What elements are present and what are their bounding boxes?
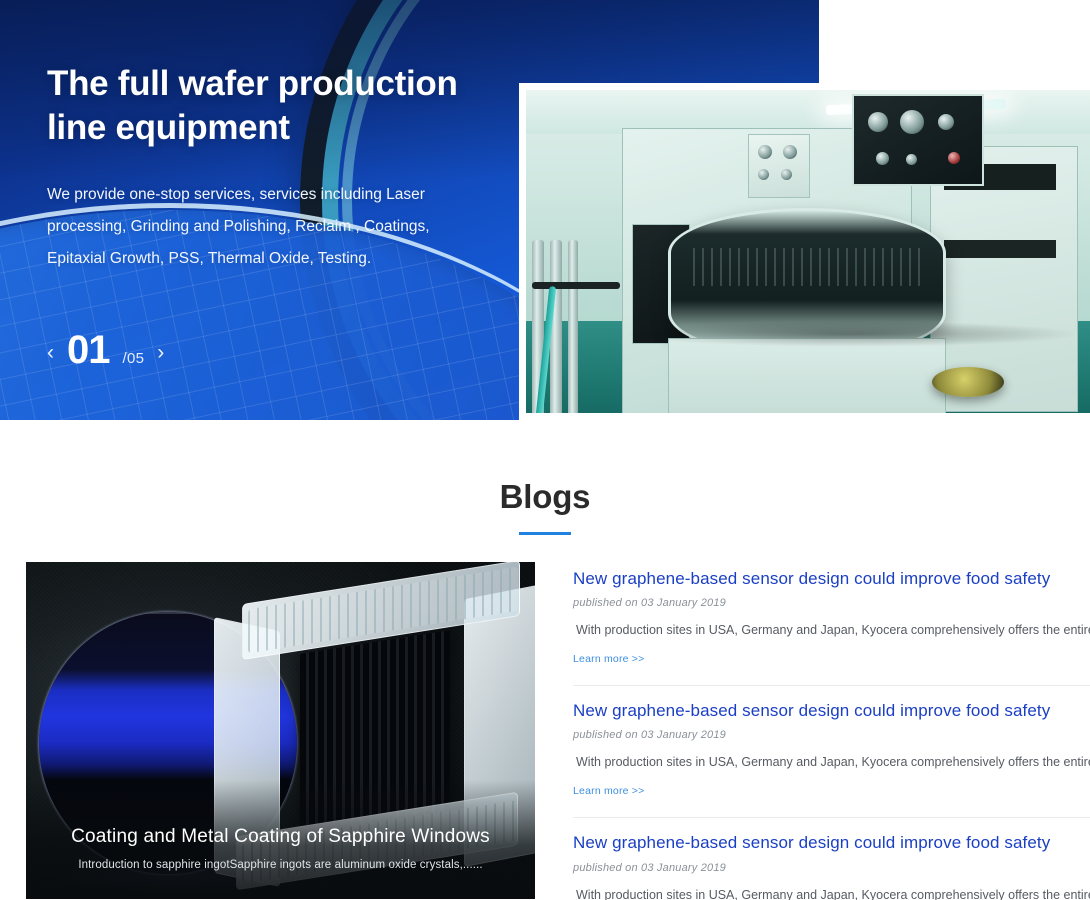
control-dial-3 bbox=[938, 114, 954, 130]
control-dial-red bbox=[948, 152, 960, 164]
hero-text-block: The full wafer production line equipment… bbox=[47, 62, 467, 274]
slider-current-index: 01 bbox=[67, 330, 110, 370]
pipe-cross bbox=[532, 282, 620, 289]
blog-item-title[interactable]: New graphene-based sensor design could i… bbox=[573, 700, 1090, 722]
hero-banner: The full wafer production line equipment… bbox=[0, 0, 1090, 420]
control-dial-4 bbox=[876, 152, 889, 165]
gauge-knob-2 bbox=[783, 145, 797, 159]
control-dial-1 bbox=[868, 112, 888, 132]
blog-list: New graphene-based sensor design could i… bbox=[573, 562, 1090, 900]
machine-gauge-panel bbox=[748, 134, 810, 198]
control-dial-2 bbox=[900, 110, 924, 134]
blog-item-date: published on 03 January 2019 bbox=[573, 862, 1090, 874]
blog-list-item: New graphene-based sensor design could i… bbox=[573, 832, 1090, 900]
featured-card-title: Coating and Metal Coating of Sapphire Wi… bbox=[26, 826, 535, 848]
hero-description: We provide one-stop services, services i… bbox=[47, 179, 447, 274]
blog-item-description: With production sites in USA, Germany an… bbox=[573, 886, 1090, 900]
blogs-heading-wrap: Blogs bbox=[0, 420, 1090, 535]
blogs-heading: Blogs bbox=[0, 478, 1090, 516]
blog-item-description: With production sites in USA, Germany an… bbox=[573, 753, 1090, 771]
blog-item-date: published on 03 January 2019 bbox=[573, 729, 1090, 741]
cable-spool bbox=[932, 367, 1004, 397]
secondary-machine-panel-mid bbox=[944, 240, 1056, 258]
gauge-knob-4 bbox=[781, 169, 792, 180]
blog-item-date: published on 03 January 2019 bbox=[573, 597, 1090, 609]
featured-card-subtitle: Introduction to sapphire ingotSapphire i… bbox=[26, 859, 535, 871]
learn-more-link[interactable]: Learn more >> bbox=[573, 653, 644, 665]
hero-equipment-photo bbox=[519, 83, 1090, 420]
learn-more-link[interactable]: Learn more >> bbox=[573, 785, 644, 797]
featured-card-caption: Coating and Metal Coating of Sapphire Wi… bbox=[26, 780, 535, 899]
blog-item-title[interactable]: New graphene-based sensor design could i… bbox=[573, 568, 1090, 590]
hero-slider-nav: ‹ 01 /05 › bbox=[47, 330, 164, 370]
chevron-right-icon[interactable]: › bbox=[157, 342, 164, 363]
blog-list-item: New graphene-based sensor design could i… bbox=[573, 700, 1090, 818]
machine-control-panel bbox=[852, 94, 984, 186]
chevron-left-icon[interactable]: ‹ bbox=[47, 342, 54, 363]
control-dial-5 bbox=[906, 154, 917, 165]
blogs-section: Blogs Coating and Metal Coating of Sapph… bbox=[0, 420, 1090, 900]
blog-list-item: New graphene-based sensor design could i… bbox=[573, 562, 1090, 686]
gauge-knob-3 bbox=[758, 169, 769, 180]
blog-item-description: With production sites in USA, Germany an… bbox=[573, 621, 1090, 639]
floor-shadow bbox=[622, 321, 1082, 347]
hero-title: The full wafer production line equipment bbox=[47, 62, 467, 150]
blogs-content-row: Coating and Metal Coating of Sapphire Wi… bbox=[0, 562, 1090, 900]
featured-blog-card[interactable]: Coating and Metal Coating of Sapphire Wi… bbox=[26, 562, 535, 899]
machine-base-cabinet bbox=[668, 338, 946, 413]
pipe-3 bbox=[568, 240, 578, 413]
gauge-knob-1 bbox=[758, 145, 772, 159]
blog-item-title[interactable]: New graphene-based sensor design could i… bbox=[573, 832, 1090, 854]
slider-total-count: /05 bbox=[123, 350, 145, 367]
heading-underline-accent bbox=[519, 532, 571, 535]
